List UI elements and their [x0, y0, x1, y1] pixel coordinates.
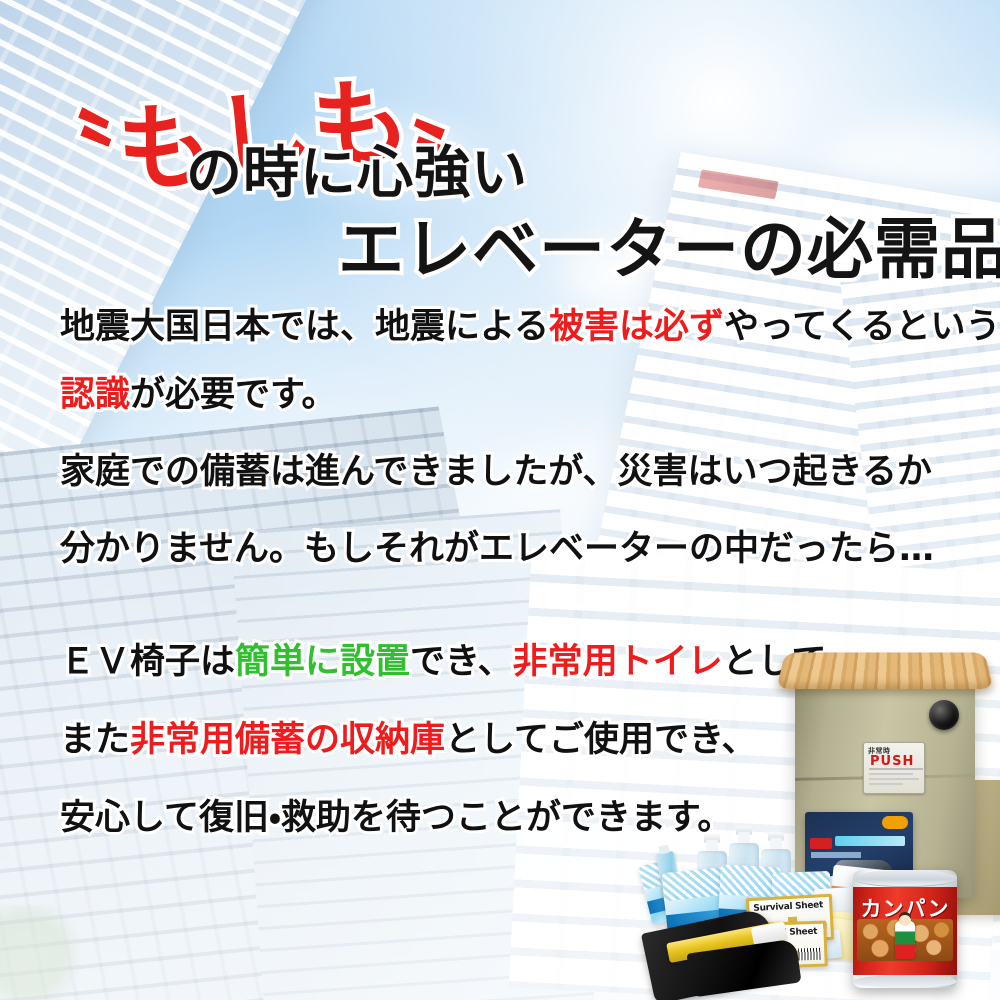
body-text: 地震大国日本では、地震による [60, 307, 549, 347]
ev-chair-wooden-seat [776, 653, 994, 690]
can-base [853, 975, 957, 988]
body-text: でき、 [410, 642, 513, 682]
can-label: カンパン そのままたべられる 携帯非常食 [853, 887, 957, 975]
barcode-icon [798, 948, 820, 961]
plate-rule [869, 768, 923, 770]
plate-rule [869, 773, 913, 775]
body-text-highlight-red: 被害は必ず [549, 307, 724, 347]
package-subtitle-bar [811, 852, 861, 858]
kanpan-can: カンパン そのままたべられる 携帯非常食 [853, 870, 957, 988]
body-text: が必要です。 [130, 375, 337, 415]
plate-label-push: PUSH [870, 754, 914, 769]
body-line-4: 分かりません。もしそれがエレベーターの中だったら… [60, 532, 934, 567]
body-text-highlight-red: 非常用備蓄の収納庫 [130, 720, 445, 760]
ev-chair-instruction-plate: 非常時 PUSH [863, 742, 925, 794]
survival-sheet-label: Survival Sheet [753, 900, 823, 914]
body-text: また [60, 720, 130, 760]
body-text: ＥＶ椅子は [60, 642, 235, 682]
body-line-2: 認識が必要です。 [60, 378, 337, 413]
pouch-pattern [662, 867, 727, 901]
mascot-icon [895, 921, 915, 959]
body-text: やってくるという [724, 307, 1000, 347]
headline-line-3: エレベーターの必需品 [338, 196, 1000, 292]
body-text-highlight-red: 認識 [60, 375, 130, 415]
ev-chair-knob-icon [929, 700, 959, 730]
package-badge [882, 816, 908, 829]
promo-banner: 〝もしも〟 の時に心強い エレベーターの必需品 地震大国日本では、地震による被害… [0, 0, 1000, 1000]
package-title-bar [835, 836, 905, 846]
can-rim [853, 870, 957, 887]
plate-rule [869, 778, 919, 780]
body-text-highlight-green: 簡単に設置 [235, 642, 410, 682]
plate-rule [869, 783, 903, 785]
body-line-1: 地震大国日本では、地震による被害は必ずやってくるという [60, 310, 1000, 345]
product-photo: 非常時 PUSH [645, 620, 1000, 1000]
body-line-3: 家庭での備蓄は進んできましたが、災害はいつ起きるか [60, 455, 932, 490]
body-line-7: 安心して復旧・救助を待つことができます。 [60, 801, 732, 836]
package-red-tag [810, 838, 832, 849]
headline-block: 〝もしも〟 の時に心強い エレベーターの必需品 [0, 0, 1000, 290]
banner-content: 〝もしも〟 の時に心強い エレベーターの必需品 地震大国日本では、地震による被害… [0, 0, 1000, 1000]
